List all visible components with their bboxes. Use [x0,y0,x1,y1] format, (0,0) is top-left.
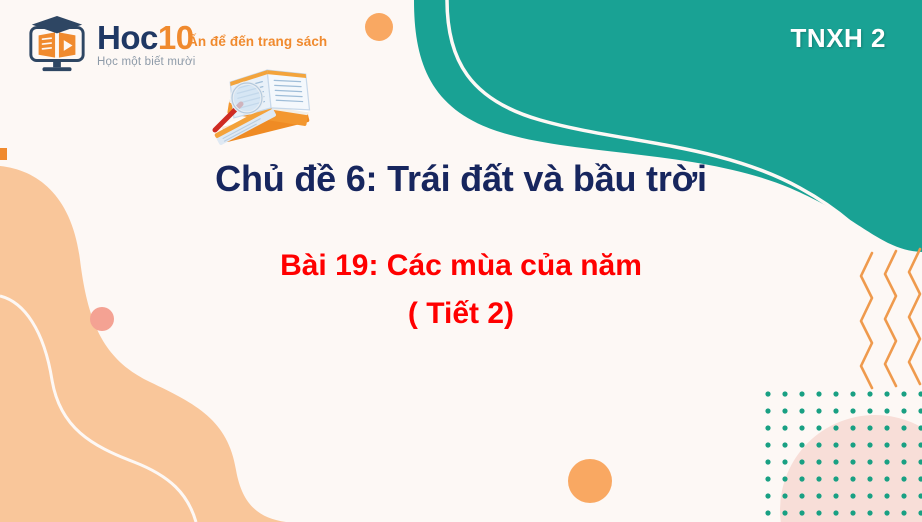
logo-tagline: Học một biết mười [97,57,196,69]
orange-circle-bottom [568,459,612,503]
title-stack: Chủ đề 6: Trái đất và bầu trời Bài 19: C… [0,158,922,332]
lesson-title: Bài 19: Các mùa của năm [0,247,922,285]
brand-logo[interactable]: Hoc10 Học một biết mười [26,14,196,76]
go-to-book-hint-label[interactable]: Ấn để đến trang sách [188,34,327,49]
logo-text-block: Hoc10 Học một biết mười [97,21,196,69]
pink-circle-shape [780,415,922,522]
chapter-title: Chủ đề 6: Trái đất và bầu trời [0,158,922,199]
subject-badge: TNXH 2 [791,23,886,54]
logo-wordmark: Hoc10 [97,21,194,54]
dot-grid-area [764,386,922,518]
lesson-part-label: ( Tiết 2) [0,295,922,333]
orange-circle-top [365,13,393,41]
stack-of-books-with-magnifier-icon[interactable] [203,58,331,150]
slide-canvas: Hoc10 Học một biết mười Ấn để đến trang … [0,0,922,522]
hoc10-logo-icon [26,14,88,76]
logo-word-dark: Hoc [97,19,158,56]
